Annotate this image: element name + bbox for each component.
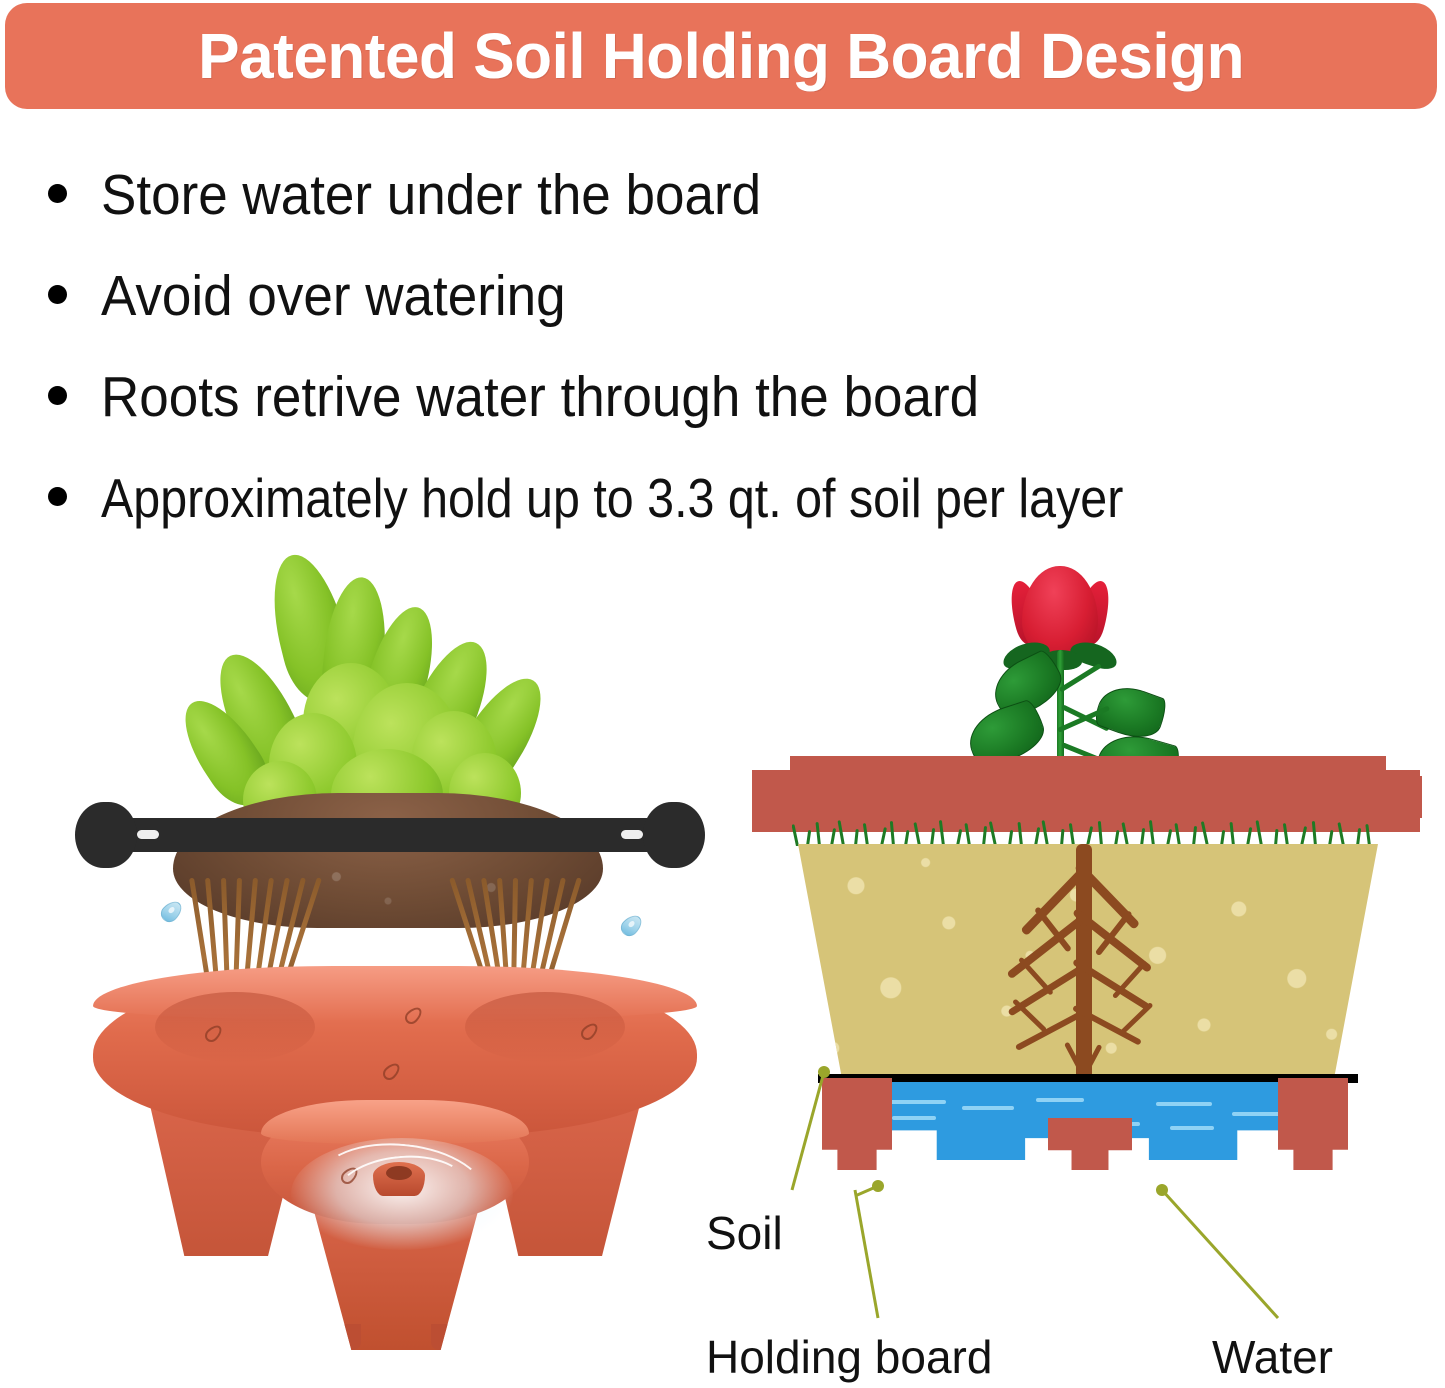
pot-leg-left <box>822 1078 892 1170</box>
list-item: Store water under the board <box>48 152 1438 253</box>
list-item: Roots retrive water through the board <box>48 354 1438 455</box>
list-item: Approximately hold up to 3.3 qt. of soil… <box>48 455 1438 556</box>
pot-leg-center <box>1048 1118 1132 1170</box>
feature-bullet-list: Store water under the board Avoid over w… <box>48 152 1438 556</box>
bullet-dot-icon <box>48 487 67 506</box>
header-banner: Patented Soil Holding Board Design <box>5 3 1437 109</box>
list-item: Avoid over watering <box>48 253 1438 354</box>
infographic-page: Patented Soil Holding Board Design Store… <box>0 0 1445 1388</box>
list-item-label: Approximately hold up to 3.3 qt. of soil… <box>101 455 1123 541</box>
grass-layer <box>792 816 1384 846</box>
callout-label-holding-board: Holding board <box>706 1330 992 1384</box>
stacking-planter-photo <box>55 548 735 1338</box>
page-title: Patented Soil Holding Board Design <box>198 19 1244 93</box>
planter-lower-rim <box>261 1100 529 1144</box>
list-item-label: Avoid over watering <box>101 253 566 339</box>
bullet-dot-icon <box>48 285 67 304</box>
callout-label-soil: Soil <box>706 1206 783 1260</box>
pot-leg-right <box>1278 1078 1348 1170</box>
list-item-label: Store water under the board <box>101 152 761 238</box>
holding-board-upper <box>75 796 705 876</box>
water-droplet-icon <box>617 911 645 939</box>
stacking-planter-body <box>85 966 705 1336</box>
bullet-dot-icon <box>48 184 67 203</box>
callout-label-water: Water <box>1212 1330 1333 1384</box>
bullet-dot-icon <box>48 386 67 405</box>
holding-board <box>818 1074 1358 1083</box>
list-item-label: Roots retrive water through the board <box>101 354 979 440</box>
pot-cross-section-diagram <box>740 558 1430 1348</box>
water-droplet-icon <box>157 897 185 925</box>
figures-area <box>0 548 1445 1388</box>
